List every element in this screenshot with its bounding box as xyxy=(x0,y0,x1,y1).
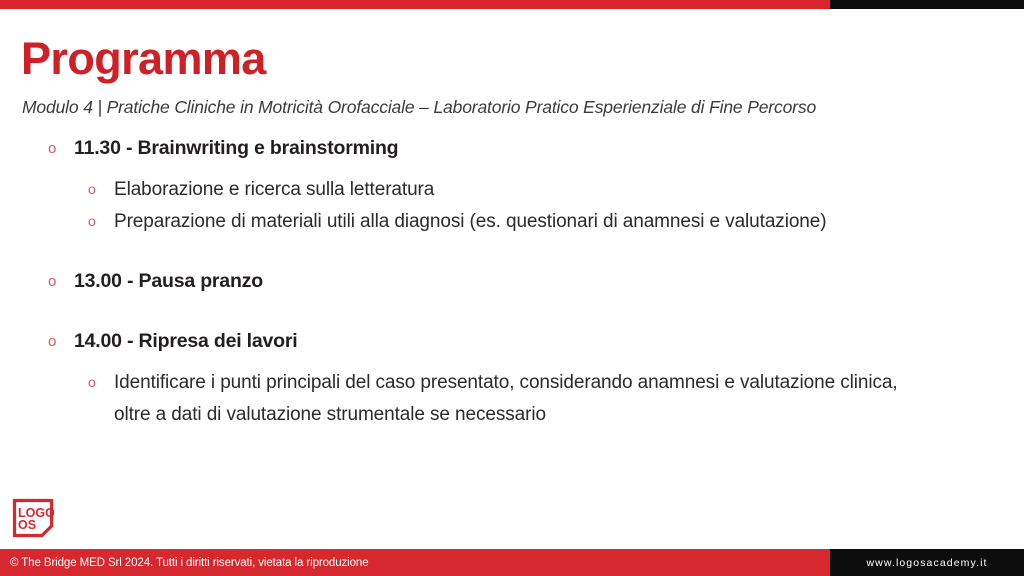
spacer xyxy=(0,237,1024,267)
circle-bullet-icon: o xyxy=(48,327,74,349)
list-item: o Preparazione di materiali utili alla d… xyxy=(0,206,1024,237)
list-item-label: 13.00 - Pausa pranzo xyxy=(74,267,1024,295)
page-subtitle: Modulo 4 | Pratiche Cliniche in Motricit… xyxy=(22,97,816,118)
circle-bullet-icon: o xyxy=(88,367,114,389)
logos-academy-logo: LOGO OS xyxy=(12,498,54,540)
slide-content: Programma Modulo 4 | Pratiche Cliniche i… xyxy=(0,9,1024,549)
page-title: Programma xyxy=(21,35,266,82)
top-bar-red-segment xyxy=(0,0,830,9)
list-item-label: Elaborazione e ricerca sulla letteratura xyxy=(114,174,914,205)
circle-bullet-icon: o xyxy=(88,174,114,196)
circle-bullet-icon: o xyxy=(48,267,74,289)
list-item: o 14.00 - Ripresa dei lavori xyxy=(0,327,1024,355)
list-item-label: 14.00 - Ripresa dei lavori xyxy=(74,327,1024,355)
circle-bullet-icon: o xyxy=(88,206,114,228)
agenda-list: o 11.30 - Brainwriting e brainstorming o… xyxy=(0,134,1024,430)
svg-text:OS: OS xyxy=(18,518,36,532)
spacer xyxy=(0,297,1024,327)
spacer xyxy=(0,357,1024,367)
top-bar-black-segment xyxy=(830,0,1024,9)
spacer xyxy=(0,164,1024,174)
footer-bar: © The Bridge MED Srl 2024. Tutti i dirit… xyxy=(0,549,1024,576)
top-decorative-bar xyxy=(0,0,1024,9)
list-item: o Elaborazione e ricerca sulla letteratu… xyxy=(0,174,1024,205)
list-item-label: Identificare i punti principali del caso… xyxy=(114,367,914,430)
list-item-label: 11.30 - Brainwriting e brainstorming xyxy=(74,134,1024,162)
list-item: o Identificare i punti principali del ca… xyxy=(0,367,1024,430)
list-item: o 13.00 - Pausa pranzo xyxy=(0,267,1024,295)
list-item-label: Preparazione di materiali utili alla dia… xyxy=(114,206,914,237)
footer-website-link[interactable]: www.logosacademy.it xyxy=(866,557,987,569)
list-item: o 11.30 - Brainwriting e brainstorming xyxy=(0,134,1024,162)
footer-copyright-area: © The Bridge MED Srl 2024. Tutti i dirit… xyxy=(0,549,830,576)
circle-bullet-icon: o xyxy=(48,134,74,156)
footer-copyright-text: © The Bridge MED Srl 2024. Tutti i dirit… xyxy=(10,557,369,569)
footer-website-area[interactable]: www.logosacademy.it xyxy=(830,549,1024,576)
